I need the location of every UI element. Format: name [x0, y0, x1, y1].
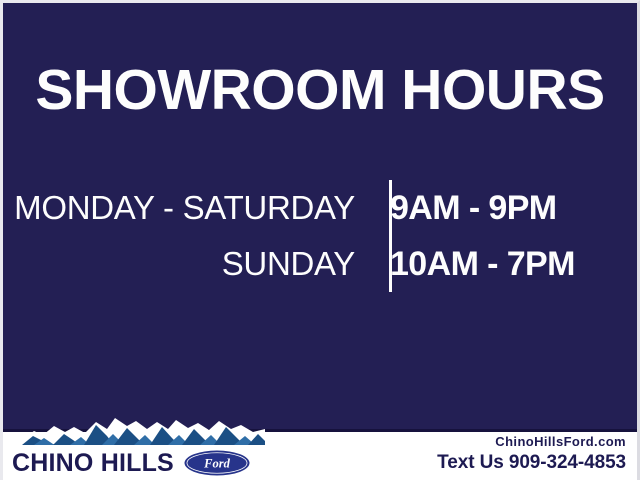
mountain-range-icon	[10, 404, 265, 448]
ford-oval-logo-icon: Ford	[184, 450, 250, 476]
page-title: SHOWROOM HOURS	[0, 60, 640, 120]
hours-days-label: MONDAY - SATURDAY	[0, 190, 372, 226]
hours-row: MONDAY - SATURDAY 9AM - 9PM	[0, 180, 640, 236]
hours-table: MONDAY - SATURDAY 9AM - 9PM SUNDAY 10AM …	[0, 180, 640, 292]
hours-days-label: SUNDAY	[0, 246, 372, 282]
text-us-phone-text[interactable]: Text Us 909-324-4853	[437, 451, 626, 474]
dealer-name-text: CHINO HILLS	[12, 449, 174, 477]
contact-info: ChinoHillsFord.com Text Us 909-324-4853	[437, 434, 626, 474]
hours-column-divider	[389, 180, 392, 292]
svg-text:Ford: Ford	[203, 457, 230, 471]
showroom-hours-sign: SHOWROOM HOURS MONDAY - SATURDAY 9AM - 9…	[0, 0, 640, 480]
hours-time-value: 9AM - 9PM	[372, 190, 557, 226]
website-url-text[interactable]: ChinoHillsFord.com	[437, 434, 626, 450]
dealer-logo: CHINO HILLS Ford	[10, 404, 265, 476]
hours-row: SUNDAY 10AM - 7PM	[0, 236, 640, 292]
hours-time-value: 10AM - 7PM	[372, 246, 575, 282]
brand-lockup-row: CHINO HILLS Ford	[12, 448, 250, 478]
